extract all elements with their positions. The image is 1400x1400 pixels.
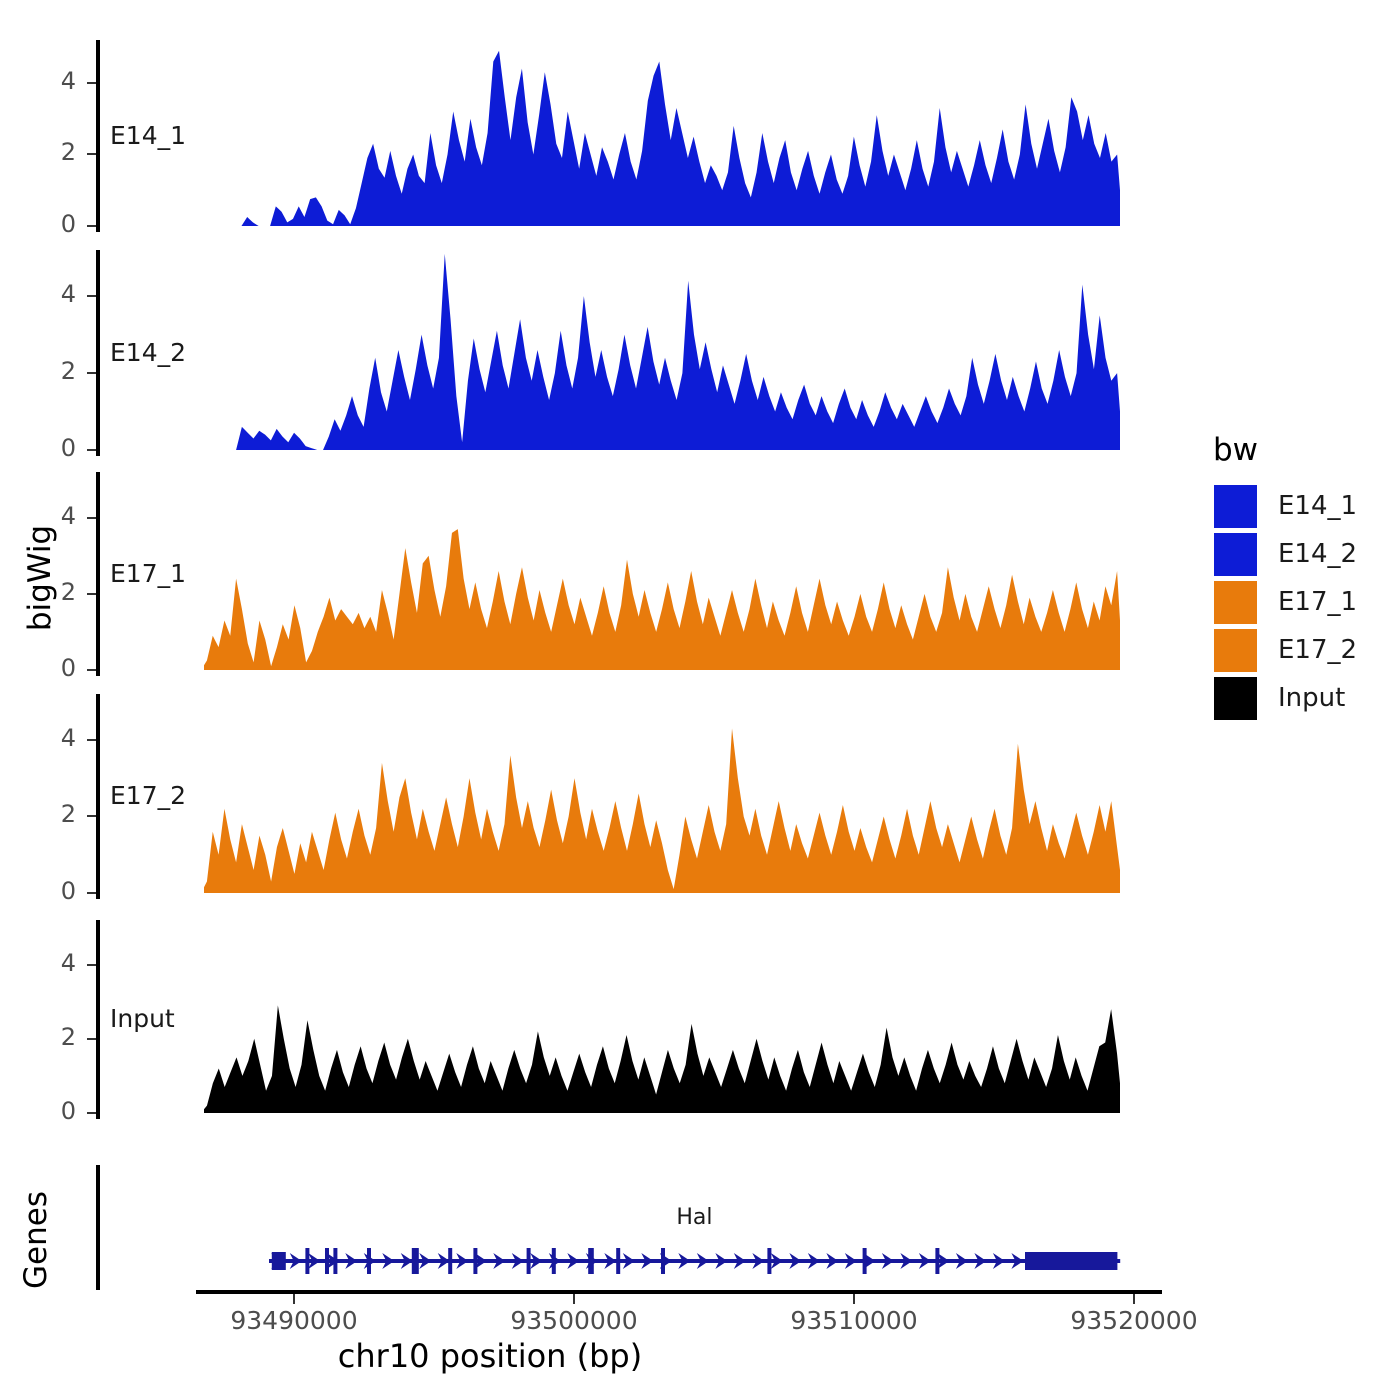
legend-item-e17_2[interactable]: E17_2: [1213, 626, 1357, 674]
legend-swatch-e14_1: [1213, 484, 1258, 529]
legend-swatch-input: [1213, 676, 1258, 721]
legend-swatch-e14_2: [1213, 532, 1258, 577]
y-tick-mark: [87, 295, 96, 297]
y-tick-mark: [87, 517, 96, 519]
y-tick-label: 2: [24, 578, 76, 606]
y-tick-mark: [87, 964, 96, 966]
y-tick-label: 0: [24, 434, 76, 462]
legend-item-e14_2[interactable]: E14_2: [1213, 530, 1357, 578]
y-tick-mark: [87, 892, 96, 894]
y-axis-line-e14_2: [96, 250, 100, 456]
y-axis-line-e14_1: [96, 40, 100, 232]
x-axis-title: chr10 position (bp): [0, 1337, 1190, 1375]
y-tick-label: 4: [24, 724, 76, 752]
bigwig-genome-browser-figure: bigWig Genes 024E14_1024E14_2024E17_1024…: [0, 0, 1400, 1400]
legend-item-e14_1[interactable]: E14_1: [1213, 482, 1357, 530]
x-tick-label: 93490000: [194, 1306, 394, 1335]
legend-rows: E14_1E14_2E17_1E17_2Input: [1213, 482, 1357, 722]
x-tick-label: 93500000: [474, 1306, 674, 1335]
legend-swatch-e17_2: [1213, 628, 1258, 673]
y-tick-mark: [87, 1038, 96, 1040]
y-tick-mark: [87, 669, 96, 671]
y-tick-label: 0: [24, 1097, 76, 1125]
y-tick-mark: [87, 372, 96, 374]
legend-label-e17_2: E17_2: [1278, 635, 1357, 665]
y-tick-label: 0: [24, 654, 76, 682]
panel-label-input: Input: [110, 1004, 175, 1033]
y-axis-line-input: [96, 920, 100, 1119]
y-tick-mark: [87, 153, 96, 155]
panel-label-e14_1: E14_1: [110, 121, 186, 150]
y-axis-line-e17_2: [96, 694, 100, 899]
x-axis-line: [196, 1290, 1162, 1294]
x-tick-mark: [853, 1294, 855, 1304]
y-tick-label: 4: [24, 949, 76, 977]
legend-label-e14_2: E14_2: [1278, 539, 1357, 569]
y-tick-mark: [87, 82, 96, 84]
panel-label-e17_1: E17_1: [110, 559, 186, 588]
y-tick-label: 2: [24, 800, 76, 828]
y-tick-mark: [87, 225, 96, 227]
y-tick-mark: [87, 593, 96, 595]
gene-model-track[interactable]: [269, 1246, 1125, 1276]
coverage-track-e17_1: [204, 472, 1120, 672]
panel-label-e17_2: E17_2: [110, 781, 186, 810]
y-tick-mark: [87, 739, 96, 741]
legend-item-input[interactable]: Input: [1213, 674, 1357, 722]
genes-axis-title: Genes: [18, 1160, 54, 1320]
x-tick-mark: [1133, 1294, 1135, 1304]
y-tick-label: 4: [24, 67, 76, 95]
y-tick-label: 0: [24, 877, 76, 905]
coverage-track-e17_2: [204, 694, 1120, 895]
y-tick-mark: [87, 1112, 96, 1114]
legend: bw E14_1E14_2E17_1E17_2Input: [1213, 432, 1357, 722]
legend-title: bw: [1213, 432, 1357, 468]
legend-label-input: Input: [1278, 683, 1345, 713]
legend-item-e17_1[interactable]: E17_1: [1213, 578, 1357, 626]
y-tick-label: 4: [24, 502, 76, 530]
coverage-track-e14_1: [210, 40, 1120, 228]
genes-axis-line: [96, 1165, 100, 1290]
y-tick-label: 4: [24, 280, 76, 308]
y-tick-label: 2: [24, 1023, 76, 1051]
coverage-track-input: [204, 920, 1120, 1115]
y-tick-mark: [87, 815, 96, 817]
legend-swatch-e17_1: [1213, 580, 1258, 625]
x-tick-mark: [573, 1294, 575, 1304]
y-axis-line-e17_1: [96, 472, 100, 676]
y-tick-label: 0: [24, 210, 76, 238]
legend-label-e14_1: E14_1: [1278, 491, 1357, 521]
panel-label-e14_2: E14_2: [110, 338, 186, 367]
coverage-track-e14_2: [210, 250, 1120, 452]
gene-name-label: Hal: [614, 1205, 774, 1230]
x-tick-label: 93520000: [1034, 1306, 1234, 1335]
legend-label-e17_1: E17_1: [1278, 587, 1357, 617]
y-tick-mark: [87, 449, 96, 451]
y-tick-label: 2: [24, 138, 76, 166]
x-tick-mark: [293, 1294, 295, 1304]
x-tick-label: 93510000: [754, 1306, 954, 1335]
y-tick-label: 2: [24, 357, 76, 385]
